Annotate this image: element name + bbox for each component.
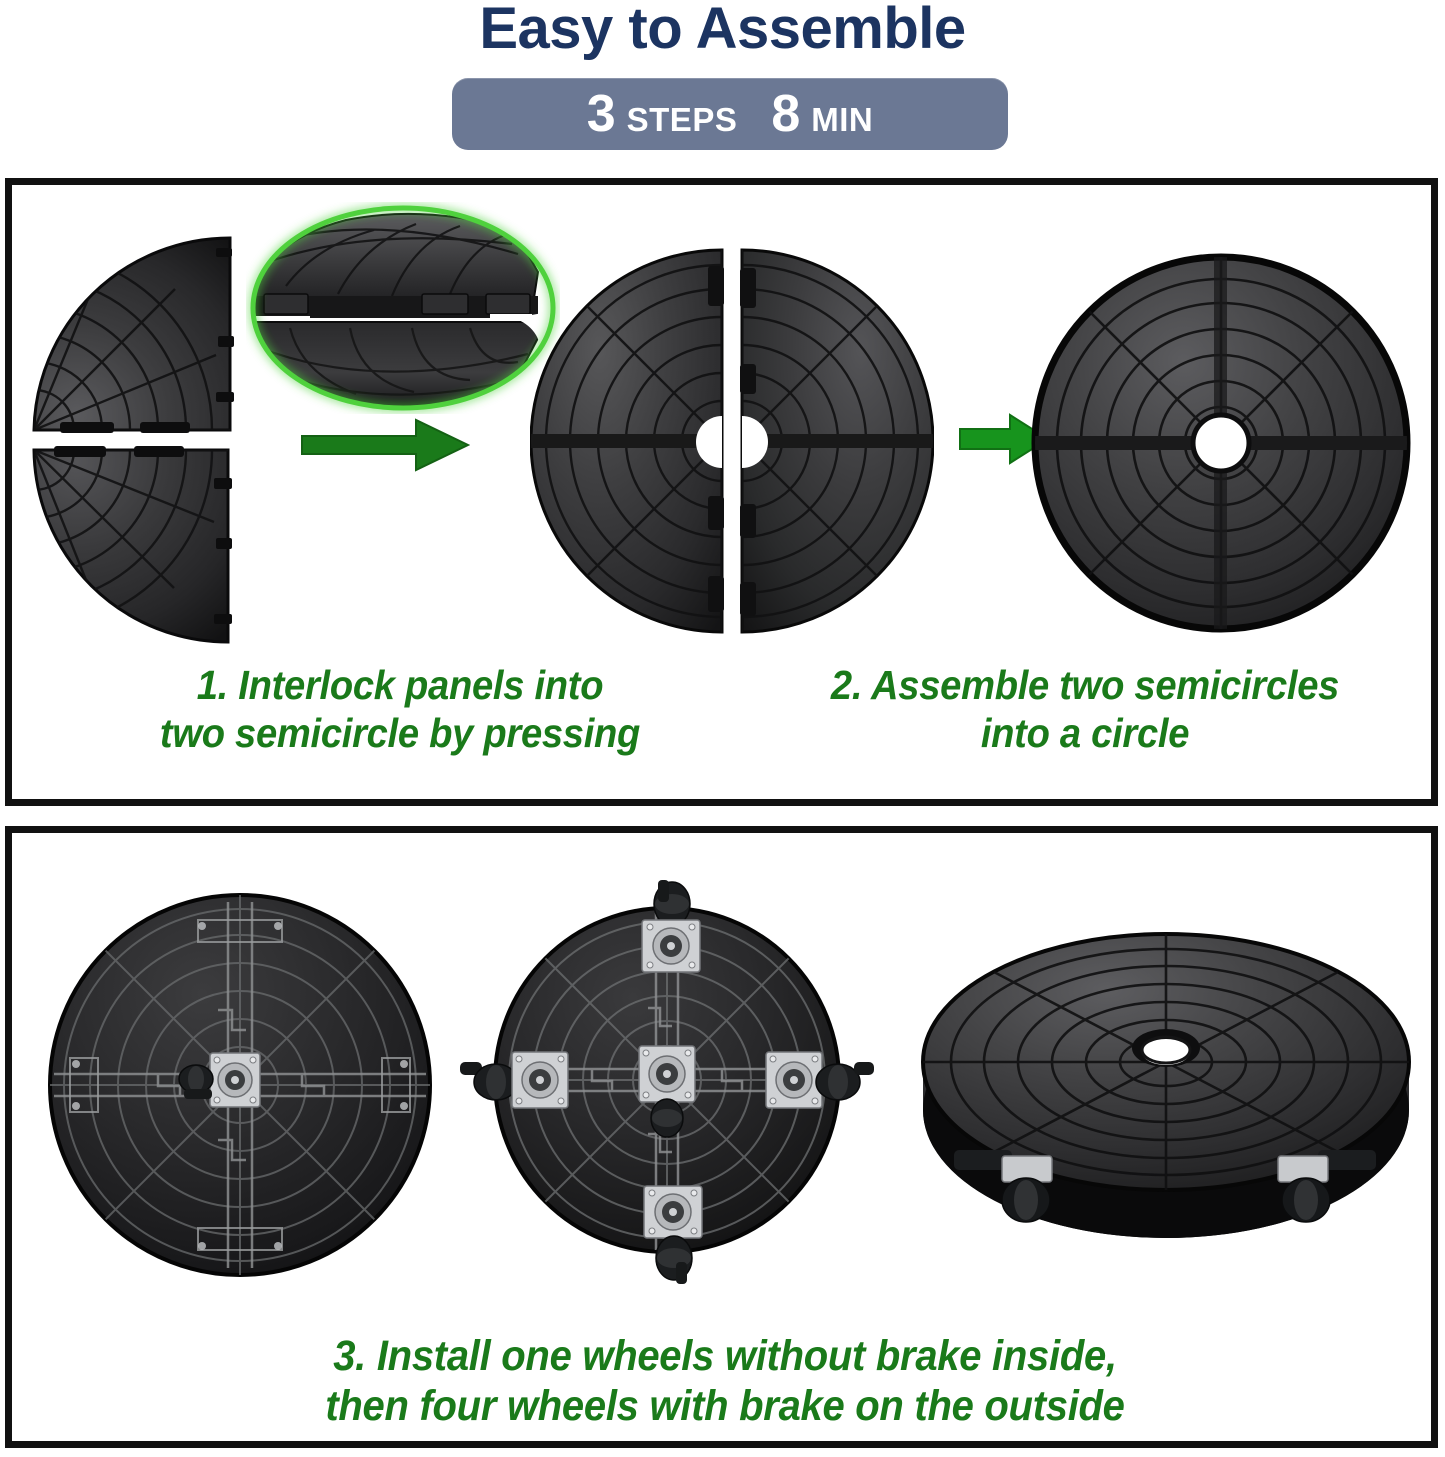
caster-left-with-brake <box>458 1040 576 1122</box>
quarter-panel-lower-illustration <box>28 446 238 646</box>
step-1-caption: 1. Interlock panels into two semicircle … <box>84 662 716 757</box>
step-2-caption: 2. Assemble two semicircles into a circl… <box>764 662 1406 757</box>
step-2-caption-line-1: 2. Assemble two semicircles <box>764 662 1406 710</box>
step-1-caption-line-1: 1. Interlock panels into <box>84 662 716 710</box>
interlock-detail-svg <box>246 202 560 414</box>
minutes-count: 8 <box>771 88 800 140</box>
caster-center-no-brake <box>176 1045 266 1123</box>
finished-caddy-perspective-illustration <box>916 928 1416 1258</box>
base-with-center-caster-illustration <box>40 890 440 1280</box>
step-3-caption-line-2: then four wheels with brake on the outsi… <box>162 1382 1287 1432</box>
arrow-step1-to-step2 <box>300 418 470 472</box>
arrow-right-icon <box>300 418 470 472</box>
steps-count: 3 <box>587 88 616 140</box>
quarter-panel-lower-svg <box>28 446 238 646</box>
caster-top-with-brake <box>632 878 712 978</box>
header: Easy to Assemble 3 STEPS 8 MIN <box>0 0 1445 172</box>
caster-no-brake-icon <box>176 1045 266 1123</box>
caster-center-icon <box>630 1044 708 1144</box>
steps-label: STEPS <box>627 103 738 136</box>
page-title: Easy to Assemble <box>0 0 1445 62</box>
two-semicircles-svg <box>530 246 934 636</box>
two-semicircles-illustration <box>530 246 934 636</box>
step-3-caption-line-1: 3. Install one wheels without brake insi… <box>162 1332 1287 1382</box>
step-3-caption: 3. Install one wheels without brake insi… <box>162 1332 1287 1432</box>
step-1-caption-line-2: two semicircle by pressing <box>84 710 716 758</box>
caster-with-brake-icon-left <box>458 1040 576 1122</box>
badge-content: 3 STEPS 8 MIN <box>587 88 874 140</box>
step-2-caption-line-2: into a circle <box>764 710 1406 758</box>
quarter-panel-upper-illustration <box>28 232 238 437</box>
quarter-panel-upper-svg <box>28 232 238 437</box>
base-with-five-casters-illustration <box>452 868 882 1292</box>
minutes-label: MIN <box>811 103 873 136</box>
interlock-detail-callout <box>246 202 560 414</box>
caster-center <box>630 1044 708 1144</box>
steps-time-badge: 3 STEPS 8 MIN <box>452 78 1008 150</box>
caster-with-brake-icon-top <box>632 878 712 978</box>
caster-with-brake-icon-right <box>758 1040 876 1122</box>
caster-with-brake-icon-bottom <box>634 1182 714 1286</box>
assembled-circle-svg <box>1030 252 1412 634</box>
caster-right-with-brake <box>758 1040 876 1122</box>
finished-caddy-svg <box>916 928 1416 1258</box>
caster-bottom-with-brake <box>634 1182 714 1286</box>
assembled-circle-illustration <box>1030 252 1412 634</box>
